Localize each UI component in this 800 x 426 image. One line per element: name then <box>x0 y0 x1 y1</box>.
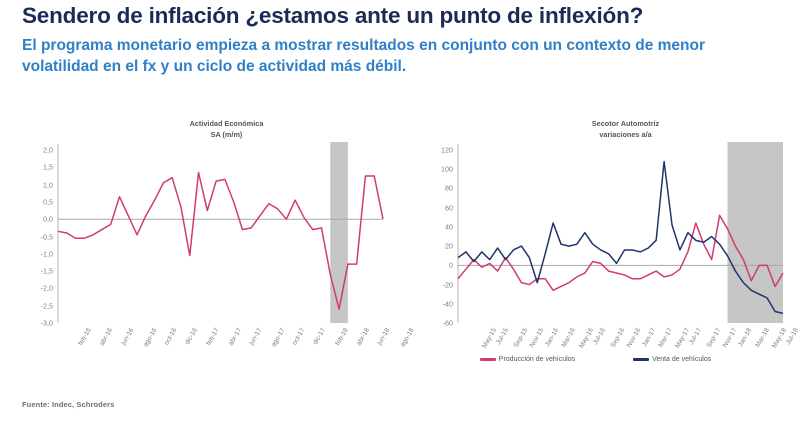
legend-label-produccion: Producción de vehículos <box>499 356 575 363</box>
y-tick-label: -2,0 <box>10 284 53 293</box>
y-tick-label: 80 <box>398 184 453 193</box>
y-tick-label: 1,5 <box>10 163 53 172</box>
chart-sector-automotriz: Secotor Automotriz variaciones a/a 12010… <box>398 118 793 393</box>
shaded-forecast-band <box>330 142 348 323</box>
legend-swatch-produccion <box>480 358 496 361</box>
y-tick-label: 60 <box>398 203 453 212</box>
chart-legend: Producción de vehículos Venta de vehícul… <box>398 356 793 363</box>
chart-actividad-economica: Actividad Económica SA (m/m) 2,01,51,00,… <box>10 118 395 393</box>
page-title: Sendero de inflación ¿estamos ante un pu… <box>22 2 782 30</box>
y-tick-label: 0,5 <box>10 197 53 206</box>
y-tick-label: -1,0 <box>10 249 53 258</box>
legend-label-venta: Venta de vehículos <box>652 356 711 363</box>
y-tick-label: 100 <box>398 165 453 174</box>
y-tick-label: 0,0 <box>10 215 53 224</box>
shaded-forecast-band <box>728 142 783 323</box>
y-tick-label: -20 <box>398 280 453 289</box>
legend-item-produccion: Producción de vehículos <box>480 356 575 363</box>
slide-root: Sendero de inflación ¿estamos ante un pu… <box>0 0 800 426</box>
source-note: Fuente: Indec, Schroders <box>22 400 114 409</box>
legend-swatch-venta <box>633 358 649 361</box>
y-tick-label: -40 <box>398 299 453 308</box>
plot-area-actividad: 2,01,51,00,50,0-0,5-1,0-1,5-2,0-2,5-3,0f… <box>10 118 395 393</box>
y-tick-label: -0,5 <box>10 232 53 241</box>
y-tick-label: -1,5 <box>10 267 53 276</box>
y-tick-label: 2,0 <box>10 146 53 155</box>
y-tick-label: 1,0 <box>10 180 53 189</box>
y-tick-label: 20 <box>398 242 453 251</box>
page-subtitle: El programa monetario empieza a mostrar … <box>22 36 762 78</box>
plot-area-automotriz: 120100806040200-20-40-60May-15Jul-15Sep-… <box>398 118 793 393</box>
y-tick-label: 0 <box>398 261 453 270</box>
y-tick-label: -2,5 <box>10 301 53 310</box>
y-tick-label: 120 <box>398 146 453 155</box>
y-tick-label: -60 <box>398 319 453 328</box>
legend-item-venta: Venta de vehículos <box>633 356 711 363</box>
y-tick-label: 40 <box>398 222 453 231</box>
y-tick-label: -3,0 <box>10 319 53 328</box>
